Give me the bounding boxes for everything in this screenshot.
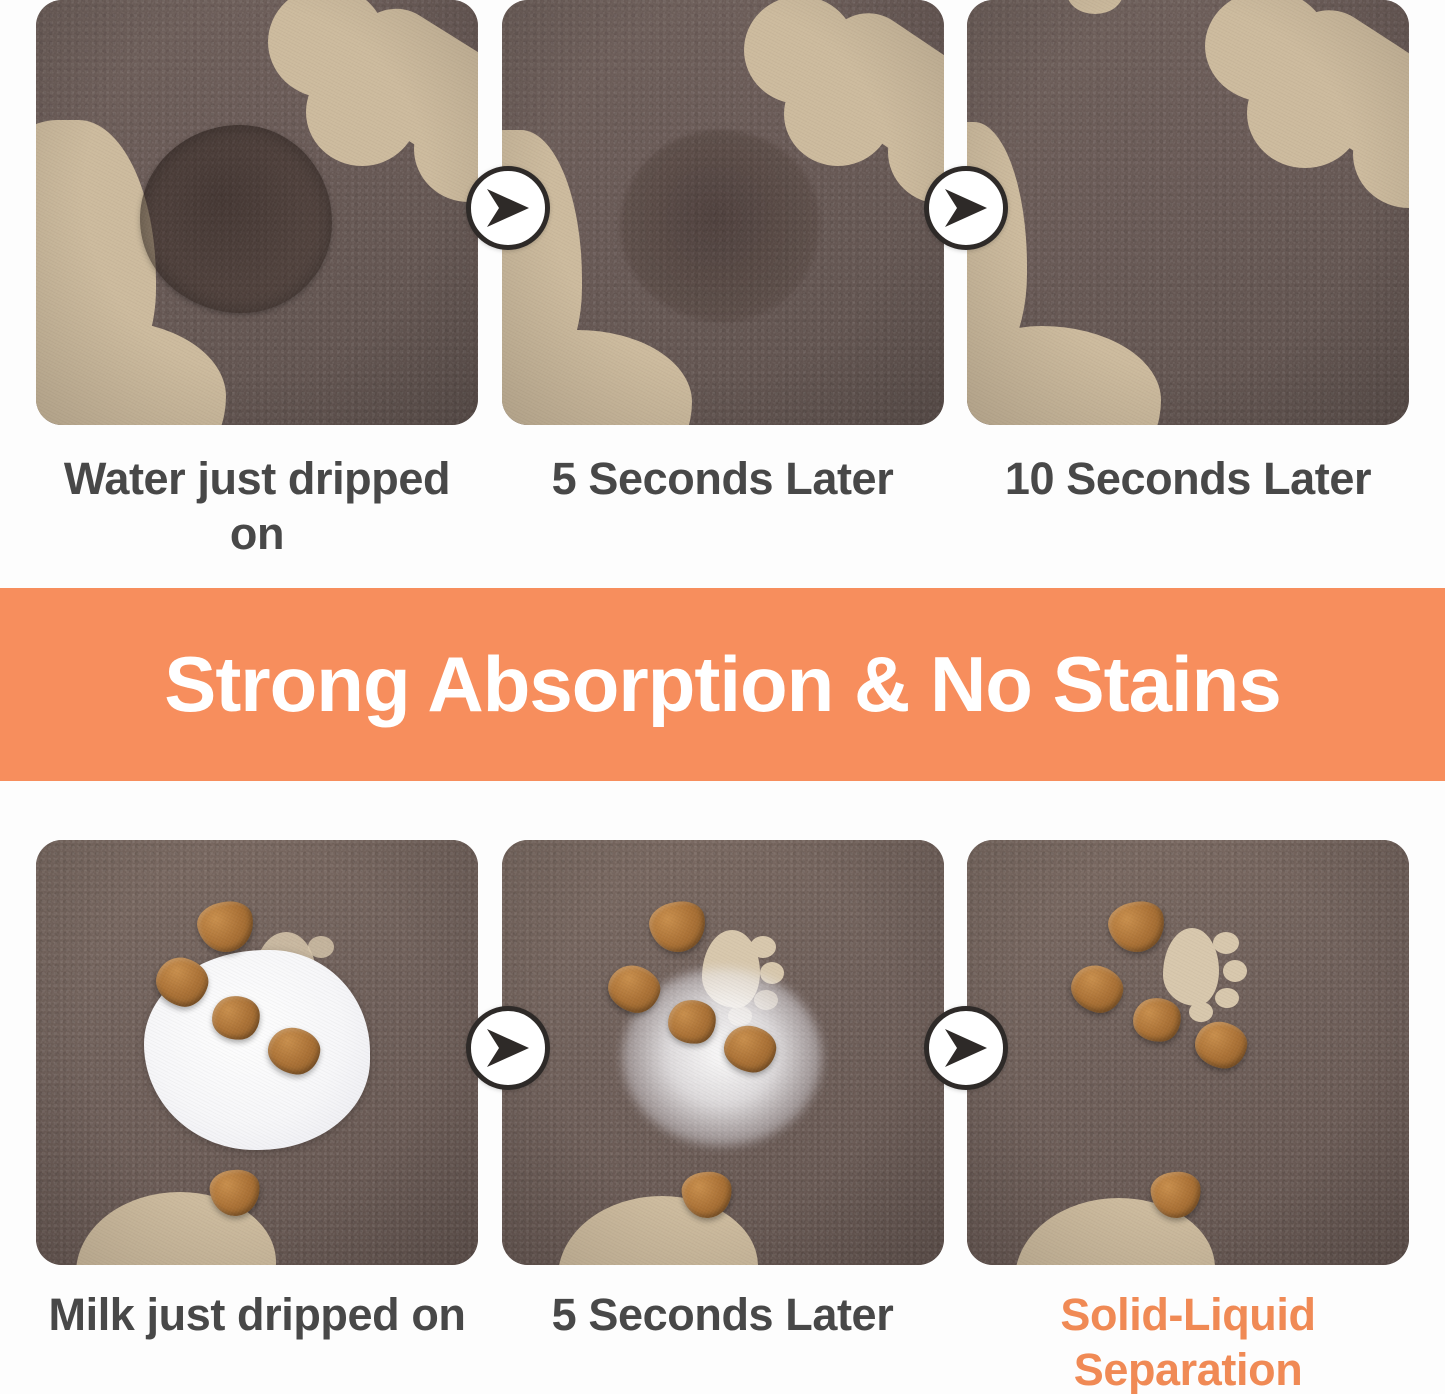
caption-water-dripped: Water just dripped on — [36, 452, 478, 562]
photo-panel-water-10s — [967, 0, 1409, 425]
chevron-right-arrow-icon — [941, 1027, 991, 1069]
sequence-arrow-badge-3 — [466, 1006, 550, 1090]
sequence-arrow-badge-4 — [924, 1006, 1008, 1090]
water-puddle — [140, 125, 332, 313]
headline-banner-title: Strong Absorption & No Stains — [0, 639, 1445, 730]
infographic-sheet: Water just dripped on 5 Seconds Later 10… — [0, 0, 1445, 1394]
chevron-right-arrow-icon — [483, 187, 533, 229]
headline-banner: Strong Absorption & No Stains — [0, 588, 1445, 781]
caption-water-5s: 5 Seconds Later — [502, 452, 944, 562]
chevron-right-arrow-icon — [941, 187, 991, 229]
caption-water-10s: 10 Seconds Later — [967, 452, 1409, 562]
photo-panel-milk-separated — [967, 840, 1409, 1265]
photo-panel-milk-dripped — [36, 840, 478, 1265]
paw-print-pad — [1163, 928, 1219, 1006]
photo-panel-water-dripped — [36, 0, 478, 425]
sequence-arrow-badge-2 — [924, 166, 1008, 250]
milk-absorption-photo-row — [0, 840, 1445, 1265]
caption-solid-liquid-separation: Solid-Liquid Separation — [967, 1288, 1409, 1394]
caption-milk-5s: 5 Seconds Later — [502, 1288, 944, 1394]
paw-print-toe-3 — [1215, 988, 1239, 1008]
photo-panel-water-5s — [502, 0, 944, 425]
paw-print-toe-2 — [1223, 960, 1247, 982]
water-damp-patch — [620, 130, 820, 322]
milk-sequence-captions: Milk just dripped on 5 Seconds Later Sol… — [0, 1288, 1445, 1394]
chevron-right-arrow-icon — [483, 1027, 533, 1069]
water-absorption-photo-row — [0, 0, 1445, 425]
paw-print-toe-1 — [308, 936, 334, 958]
paw-print-toe-1 — [750, 936, 776, 958]
paw-print-toe-4 — [1189, 1002, 1213, 1022]
sequence-arrow-badge-1 — [466, 166, 550, 250]
paw-print-toe-1 — [1213, 932, 1239, 954]
photo-panel-milk-5s — [502, 840, 944, 1265]
water-sequence-captions: Water just dripped on 5 Seconds Later 10… — [0, 452, 1445, 562]
caption-milk-dripped: Milk just dripped on — [36, 1288, 478, 1394]
